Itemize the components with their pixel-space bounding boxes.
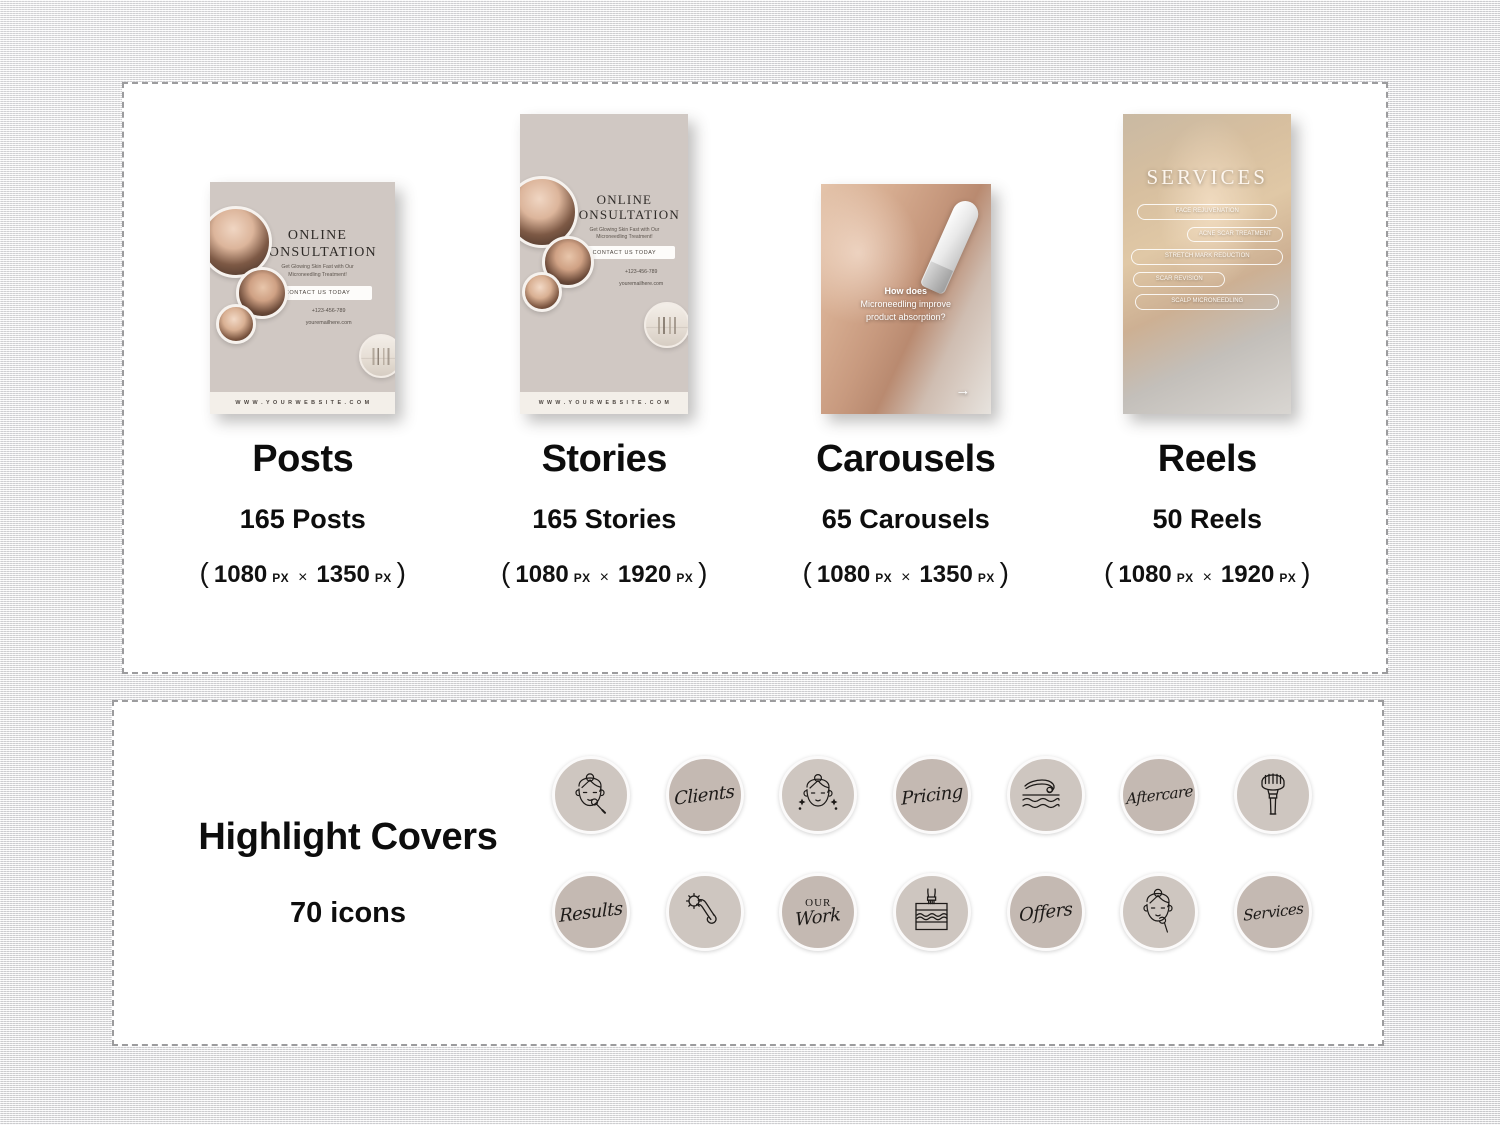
product-dims-reels: ( 1080 PX × 1920 PX ): [1104, 557, 1310, 589]
posts-headline-line1: ONLINE: [258, 228, 378, 244]
stories-footer-text: W W W . Y O U R W E B S I T E . C O M: [539, 400, 670, 406]
microneedling-device-icon: [919, 197, 982, 295]
posts-mockup[interactable]: ONLINE CONSULTATION Get Glowing Skin Fas…: [210, 182, 395, 414]
highlight-covers-grid: Clients: [534, 756, 1382, 990]
product-posts[interactable]: ONLINE CONSULTATION Get Glowing Skin Fas…: [153, 84, 453, 589]
posts-email: youremailhere.com: [236, 320, 395, 326]
highlight-covers-panel: Highlight Covers 70 icons: [112, 700, 1384, 1046]
stories-headline-line2: CONSULTATION: [565, 207, 683, 222]
carousels-mockup-wrap: How does Microneedling improve product a…: [821, 84, 991, 414]
product-title-reels: Reels: [1158, 438, 1257, 481]
posts-mockup-wrap: ONLINE CONSULTATION Get Glowing Skin Fas…: [210, 84, 395, 414]
serum-dropper-waves-icon: [1021, 775, 1071, 815]
product-dims-carousels: ( 1080 PX × 1350 PX ): [803, 557, 1009, 589]
cover-label-aftercare: Aftercare: [1126, 782, 1193, 808]
highlight-covers-section: Highlight Covers 70 icons: [114, 702, 1382, 1044]
derma-stamp-icon: [1254, 770, 1292, 820]
work-word: Work: [795, 906, 841, 929]
dims-close-paren: ): [397, 557, 406, 589]
posts-product-shelf: [359, 334, 395, 378]
dims-times: ×: [1199, 569, 1216, 587]
carousel-question: How does Microneedling improve product a…: [831, 285, 981, 323]
cover-pricing[interactable]: Pricing: [893, 756, 971, 834]
stories-headline: ONLINE CONSULTATION: [565, 192, 683, 222]
dims-width: 1080: [515, 561, 568, 589]
stories-subtext: Get Glowing Skin Fast with Our Microneed…: [567, 227, 682, 242]
face-roller-icon: [570, 772, 612, 818]
dims-px-1: PX: [272, 571, 289, 585]
dims-px-1: PX: [1177, 571, 1194, 585]
dims-px-2: PX: [676, 571, 693, 585]
cover-label-services: Services: [1243, 899, 1303, 924]
cover-face-roller[interactable]: [552, 756, 630, 834]
posts-footer-text: W W W . Y O U R W E B S I T E . C O M: [235, 400, 370, 406]
reels-services-list: FACE REJUVENATION ACNE SCAR TREATMENT ST…: [1123, 204, 1291, 310]
skin-layers-icon: [909, 887, 955, 937]
dims-px-2: PX: [978, 571, 995, 585]
cover-skin-layers[interactable]: [893, 873, 971, 951]
dims-px-2: PX: [1279, 571, 1296, 585]
highlight-covers-title: Highlight Covers: [198, 816, 497, 859]
dims-close-paren: ): [1301, 557, 1310, 589]
face-brush-icon: [1137, 887, 1181, 937]
cover-serum-waves[interactable]: [1007, 756, 1085, 834]
cover-services[interactable]: Services: [1234, 873, 1312, 951]
stories-subtext-1: Get Glowing Skin Fast with Our: [567, 227, 682, 235]
product-reels[interactable]: SERVICES FACE REJUVENATION ACNE SCAR TRE…: [1057, 84, 1357, 589]
service-pill-4[interactable]: SCALP MICRONEEDLING: [1135, 294, 1279, 310]
stories-mockup-wrap: ONLINE CONSULTATION Get Glowing Skin Fas…: [520, 84, 688, 414]
posts-portrait-small: [216, 304, 256, 344]
posts-cta-label: CONTACT US TODAY: [285, 290, 351, 296]
product-dims-posts: ( 1080 PX × 1350 PX ): [200, 557, 406, 589]
cover-label-results: Results: [559, 898, 623, 927]
cover-label-clients: Clients: [674, 781, 734, 809]
carousel-question-bold: How does: [831, 285, 981, 298]
stories-product-shelf: [644, 302, 688, 348]
dims-height: 1920: [618, 561, 671, 589]
cover-results[interactable]: Results: [552, 873, 630, 951]
cover-face-sparkle[interactable]: [779, 756, 857, 834]
dims-width: 1080: [1118, 561, 1171, 589]
carousel-question-line3: product absorption?: [831, 311, 981, 324]
dims-open-paren: (: [200, 557, 209, 589]
dims-height: 1920: [1221, 561, 1274, 589]
cover-label-offers: Offers: [1019, 898, 1073, 926]
product-carousels[interactable]: How does Microneedling improve product a…: [756, 84, 1056, 589]
posts-headline-line2: CONSULTATION: [258, 245, 378, 261]
service-pill-2[interactable]: STRETCH MARK REDUCTION: [1131, 249, 1283, 265]
cover-face-brush[interactable]: [1120, 873, 1198, 951]
products-row: ONLINE CONSULTATION Get Glowing Skin Fas…: [124, 84, 1386, 672]
service-pill-3[interactable]: SCAR REVISION: [1133, 272, 1225, 288]
cover-derma-stamp[interactable]: [1234, 756, 1312, 834]
product-count-posts: 165 Posts: [240, 504, 366, 535]
stories-headline-line1: ONLINE: [565, 192, 683, 207]
dims-px-2: PX: [375, 571, 392, 585]
stories-subtext-2: Microneedling Treatment!: [567, 234, 682, 242]
service-pill-1[interactable]: ACNE SCAR TREATMENT: [1187, 227, 1283, 243]
dims-close-paren: ): [698, 557, 707, 589]
stories-mockup[interactable]: ONLINE CONSULTATION Get Glowing Skin Fas…: [520, 114, 688, 414]
cover-aftercare[interactable]: Aftercare: [1120, 756, 1198, 834]
products-panel: ONLINE CONSULTATION Get Glowing Skin Fas…: [122, 82, 1388, 674]
reels-mockup[interactable]: SERVICES FACE REJUVENATION ACNE SCAR TRE…: [1123, 114, 1291, 414]
dims-times: ×: [596, 569, 613, 587]
cover-derma-roller[interactable]: [666, 873, 744, 951]
dims-px-1: PX: [574, 571, 591, 585]
dims-open-paren: (: [803, 557, 812, 589]
dims-width: 1080: [817, 561, 870, 589]
face-sparkle-icon: [795, 773, 841, 817]
service-pill-0[interactable]: FACE REJUVENATION: [1137, 204, 1277, 220]
carousel-question-line2: Microneedling improve: [831, 298, 981, 311]
product-title-carousels: Carousels: [816, 438, 995, 481]
product-count-stories: 165 Stories: [532, 504, 676, 535]
dims-width: 1080: [214, 561, 267, 589]
product-count-reels: 50 Reels: [1152, 504, 1262, 535]
product-stories[interactable]: ONLINE CONSULTATION Get Glowing Skin Fas…: [454, 84, 754, 589]
dims-times: ×: [294, 569, 311, 587]
cover-label-pricing: Pricing: [901, 781, 963, 810]
cover-offers[interactable]: Offers: [1007, 873, 1085, 951]
dims-open-paren: (: [1104, 557, 1113, 589]
posts-footer-bar: W W W . Y O U R W E B S I T E . C O M: [210, 392, 395, 414]
cover-clients[interactable]: Clients: [666, 756, 744, 834]
dims-height: 1350: [919, 561, 972, 589]
cover-our-work[interactable]: OUR Work: [779, 873, 857, 951]
product-title-stories: Stories: [542, 438, 667, 481]
reels-title: SERVICES: [1123, 165, 1291, 190]
product-dims-stories: ( 1080 PX × 1920 PX ): [501, 557, 707, 589]
dims-open-paren: (: [501, 557, 510, 589]
stories-footer-bar: W W W . Y O U R W E B S I T E . C O M: [520, 392, 688, 414]
stories-cta-label: CONTACT US TODAY: [593, 250, 657, 256]
posts-headline: ONLINE CONSULTATION: [258, 228, 378, 260]
carousel-next-arrow-icon[interactable]: →: [955, 383, 970, 398]
carousels-mockup[interactable]: How does Microneedling improve product a…: [821, 184, 991, 414]
dims-height: 1350: [316, 561, 369, 589]
derma-roller-icon: [682, 889, 728, 935]
dims-px-1: PX: [875, 571, 892, 585]
dims-close-paren: ): [1000, 557, 1009, 589]
reels-mockup-wrap: SERVICES FACE REJUVENATION ACNE SCAR TRE…: [1123, 84, 1291, 414]
highlight-covers-heading-block: Highlight Covers 70 icons: [114, 816, 534, 930]
cover-label-our-work: OUR Work: [795, 898, 841, 926]
product-title-posts: Posts: [252, 438, 353, 481]
product-count-carousels: 65 Carousels: [822, 504, 990, 535]
highlight-covers-count: 70 icons: [290, 897, 406, 930]
dims-times: ×: [897, 569, 914, 587]
stories-portrait-small: [522, 272, 562, 312]
